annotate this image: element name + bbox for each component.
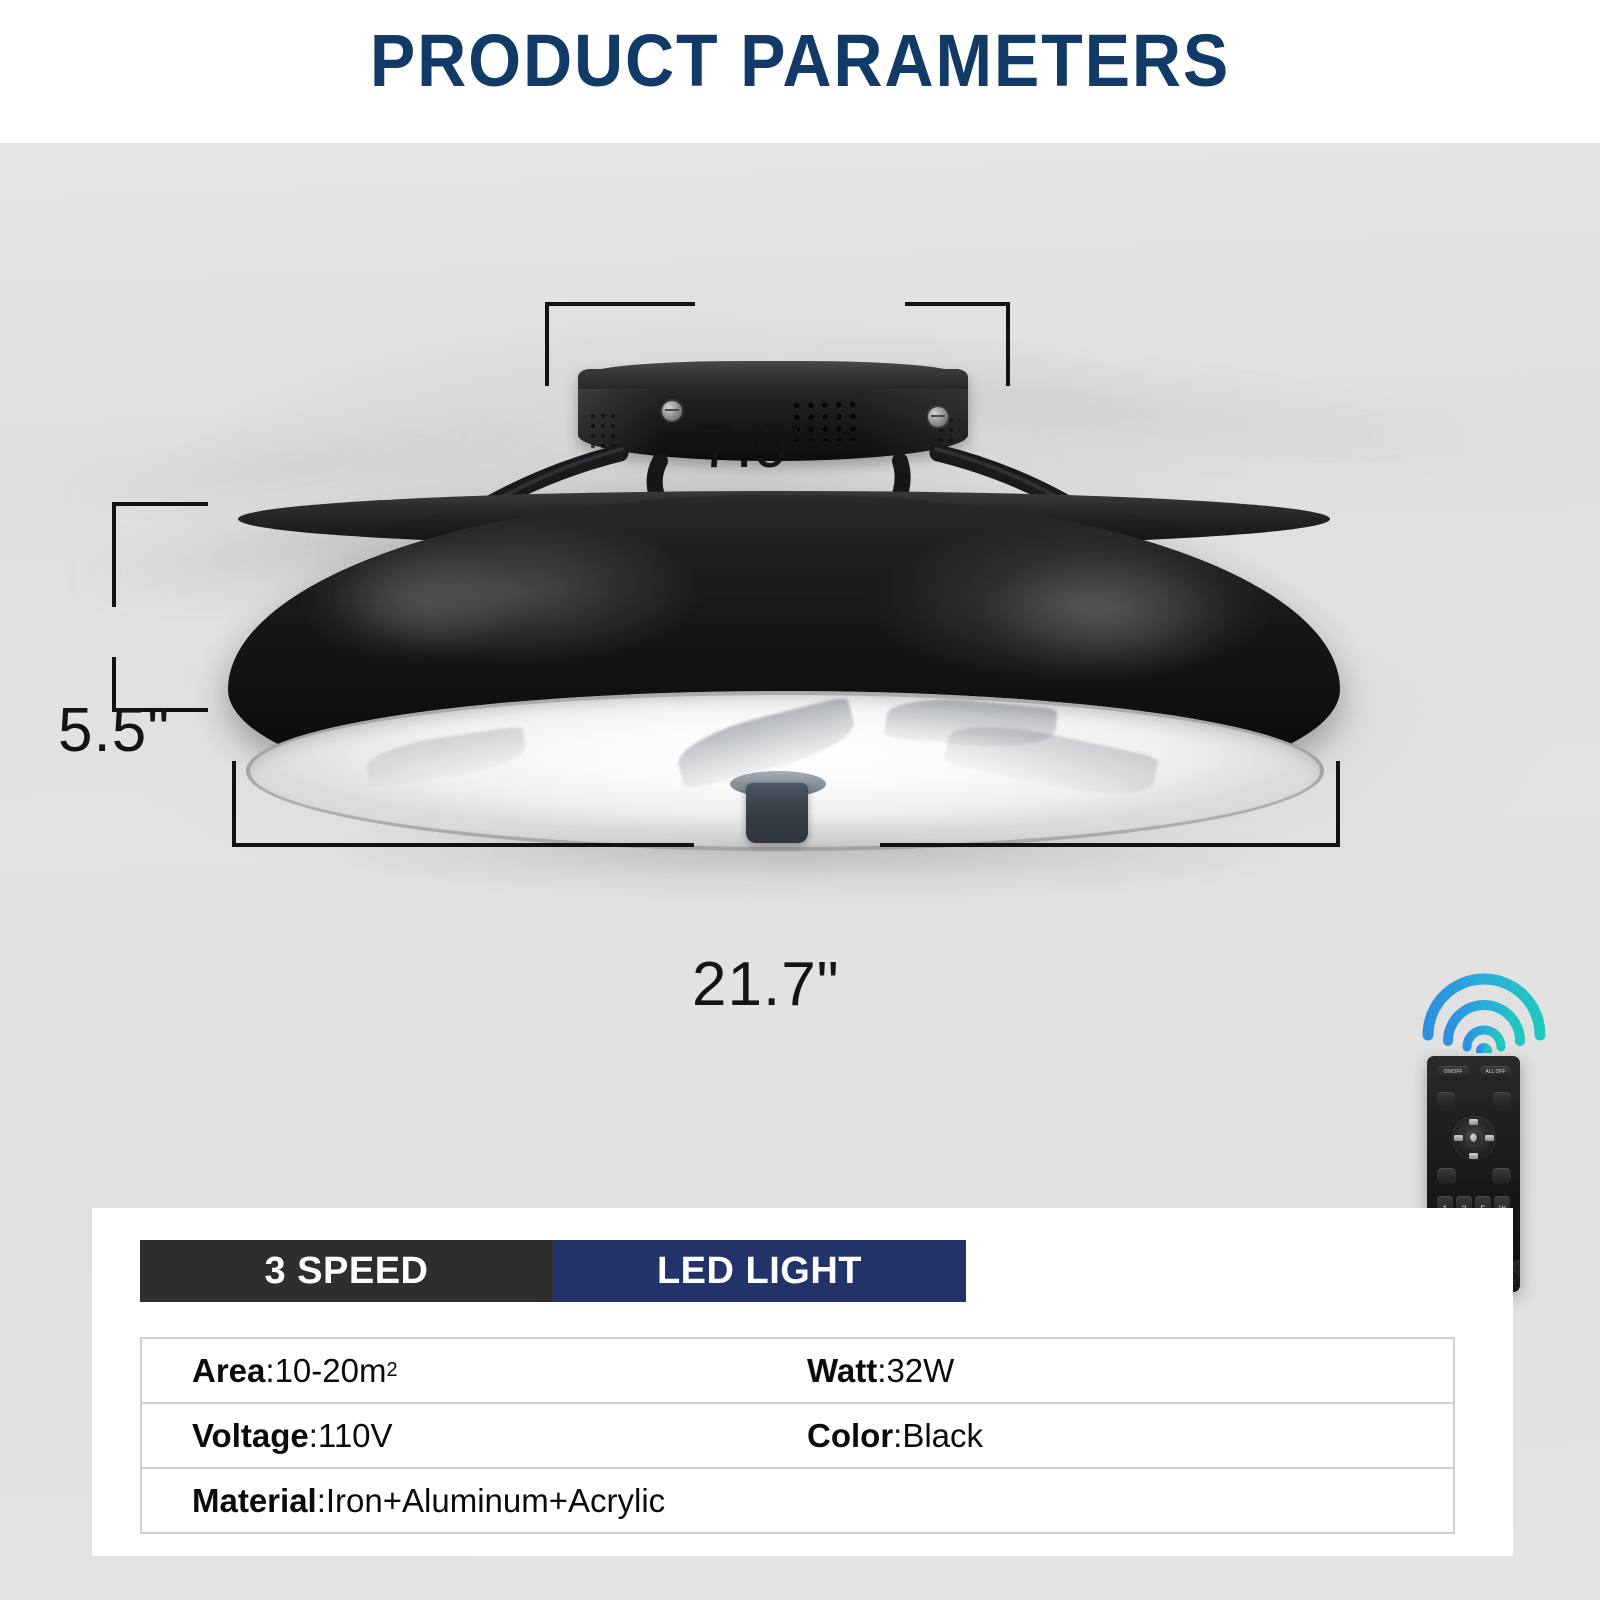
- remote-dpad-up-icon[interactable]: [1469, 1119, 1478, 1125]
- remote-power-label: ON/OFF: [1437, 1070, 1469, 1075]
- spec-sep: :: [877, 1352, 886, 1390]
- remote-reverse-button[interactable]: [1437, 1168, 1456, 1184]
- spec-value-color: Black: [902, 1417, 983, 1455]
- spec-value-watt: 32W: [886, 1352, 954, 1390]
- tab-3-speed[interactable]: 3 SPEED: [140, 1240, 553, 1302]
- table-row: Material: Iron+Aluminum+Acrylic: [142, 1469, 1453, 1534]
- spec-key-voltage: Voltage: [192, 1417, 309, 1455]
- canopy-vent-holes: [588, 411, 618, 449]
- remote-dpad-down-icon[interactable]: [1469, 1153, 1478, 1159]
- spec-cell-watt: Watt: 32W: [747, 1352, 1453, 1390]
- spec-cell-voltage: Voltage: 110V: [142, 1417, 747, 1455]
- spec-sep: :: [893, 1417, 902, 1455]
- remote-moon-mode-icon[interactable]: [1466, 1130, 1483, 1147]
- spec-value-area: 10-20m: [275, 1352, 387, 1390]
- remote-fan-button[interactable]: [1493, 1092, 1511, 1108]
- header-band: PRODUCT PARAMETERS: [0, 0, 1600, 143]
- wifi-signal-icon: [1418, 971, 1550, 1053]
- fan-blade: [364, 726, 528, 788]
- remote-dpad-left-icon[interactable]: [1454, 1135, 1463, 1141]
- spec-value-material: Iron+Aluminum+Acrylic: [326, 1482, 665, 1520]
- fan-body-highlight: [980, 551, 1240, 675]
- spec-cell-material: Material: Iron+Aluminum+Acrylic: [142, 1482, 1453, 1520]
- spec-cell-area: Area: 10-20m2: [142, 1352, 747, 1390]
- fan-body-highlight: [300, 543, 530, 663]
- spec-key-material: Material: [192, 1482, 317, 1520]
- table-row: Voltage: 110V Color: Black: [142, 1404, 1453, 1469]
- tab-led-light[interactable]: LED LIGHT: [553, 1240, 966, 1302]
- table-row: Area: 10-20m2 Watt: 32W: [142, 1339, 1453, 1404]
- page-title: PRODUCT PARAMETERS: [64, 24, 1536, 98]
- dimension-label-7-9: 7.9": [700, 411, 812, 482]
- spec-superscript-area: 2: [386, 1359, 397, 1382]
- spec-value-voltage: 110V: [318, 1417, 393, 1455]
- spec-table: Area: 10-20m2 Watt: 32W Voltage: 110V Co…: [140, 1337, 1455, 1534]
- spec-sep: :: [309, 1417, 318, 1455]
- canopy-screw: [662, 401, 682, 421]
- remote-all-off-label: ALL OFF: [1480, 1070, 1511, 1075]
- fan-drop-shadow: [300, 833, 1280, 879]
- spec-sep: :: [317, 1482, 326, 1520]
- feature-tabs: 3 SPEED LED LIGHT: [140, 1240, 966, 1302]
- dimension-label-21-7: 21.7": [692, 949, 840, 1020]
- spec-key-watt: Watt: [807, 1352, 877, 1390]
- remote-set-button[interactable]: [1492, 1168, 1511, 1184]
- spec-sep: :: [265, 1352, 274, 1390]
- spec-panel: 3 SPEED LED LIGHT Area: 10-20m2 Watt: 32…: [92, 1208, 1513, 1556]
- remote-dpad-right-icon[interactable]: [1485, 1135, 1494, 1141]
- spec-cell-color: Color: Black: [747, 1417, 1453, 1455]
- remote-dim-button[interactable]: [1437, 1092, 1455, 1108]
- canopy-screw: [928, 407, 948, 427]
- dimension-label-5-5: 5.5": [58, 695, 170, 766]
- spec-key-area: Area: [192, 1352, 265, 1390]
- spec-key-color: Color: [807, 1417, 893, 1455]
